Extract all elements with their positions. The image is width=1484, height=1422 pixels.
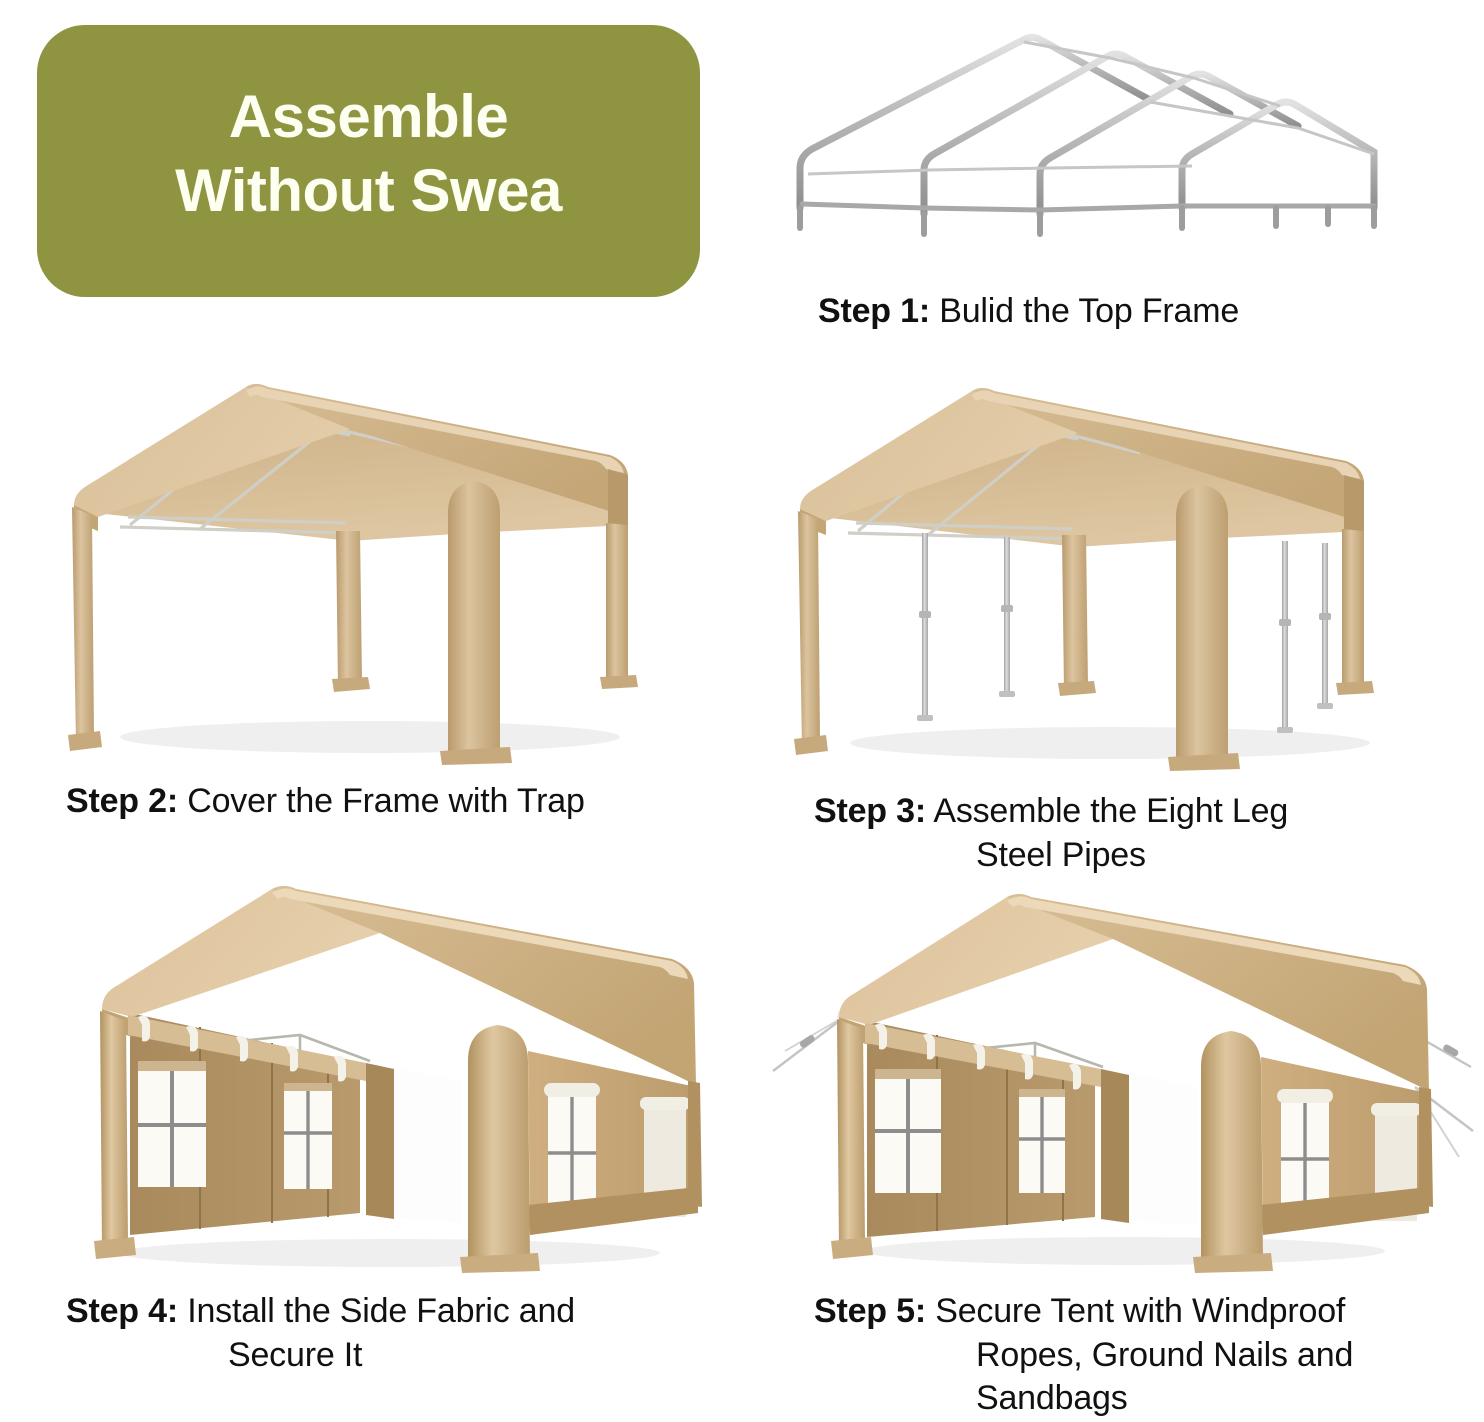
column-front-left [837,1019,865,1249]
rolled-window-cover-1 [1277,1089,1333,1103]
leg-rear-left [1062,535,1088,691]
right-window-1 [544,1083,600,1217]
door-opening [1127,1073,1197,1225]
step-1-caption: Step 1: Bulid the Top Frame [818,290,1458,334]
step-2-label: Step 2: [66,782,178,820]
enclosed-tent-illustration [60,875,720,1275]
interior-window-1 [138,1061,206,1187]
steel-leg-pipe-4 [1317,543,1333,709]
rope-tensioner-left [799,1034,816,1049]
step-1-cell: Step 1: Bulid the Top Frame [760,18,1460,358]
step-4-label: Step 4: [66,1292,178,1330]
leg-foot-rear-right [600,675,638,689]
step-5-label: Step 5: [814,1292,926,1330]
headline-badge-text: Assemble Without Swea [175,80,562,229]
step-5-cell: Step 5: Secure Tent with WindproofRopes,… [750,875,1480,1415]
steel-leg-pipe-1 [917,533,933,721]
door-flap [1101,1069,1129,1223]
leg-rear-right [1342,529,1364,689]
leg-front-left [72,507,94,743]
column-front-right [1201,1031,1263,1267]
step-3-label: Step 3: [814,792,926,830]
leg-foot-front-left [68,731,102,751]
step-3-cell: Step 3: Assemble the Eight LegSteel Pipe… [750,365,1470,865]
step-1-label: Step 1: [818,292,930,330]
step-1-text: Bulid the Top Frame [930,292,1239,330]
step-4-cell: Step 4: Install the Side Fabric andSecur… [20,875,730,1405]
door-opening [392,1067,462,1223]
canopy-covered-illustration [50,365,730,765]
canopy-eave-right [1344,475,1364,539]
steel-leg-pipes [917,533,1333,733]
leg-front-right [1176,485,1228,765]
leg-front-right [448,481,500,759]
ground-shadow [865,1237,1385,1265]
column-rear-right [688,1081,702,1207]
leg-rear-left [336,531,362,687]
enclosed-tent-with-ropes-illustration [755,875,1475,1275]
step-2-text: Cover the Frame with Trap [178,782,585,820]
step-5-text: Secure Tent with Windproof [926,1292,1345,1330]
steel-leg-pipe-2 [999,537,1015,697]
step-2-cell: Step 2: Cover the Frame with Trap [20,365,730,865]
rolled-window-cover-2 [640,1097,690,1110]
step-5-caption: Step 5: Secure Tent with WindproofRopes,… [814,1290,1474,1421]
column-rear-right [1419,1087,1433,1207]
step-4-text: Install the Side Fabric and [178,1292,575,1330]
top-frame-illustration [778,18,1418,248]
step-3-text-continued: Steel Pipes [814,834,1474,878]
step-4-text-continued: Secure It [66,1334,746,1378]
interior-window-2 [1019,1089,1065,1193]
leg-front-left [798,511,820,747]
frame-eave-purlins [802,204,1374,210]
leg-foot-rear-left [332,677,370,692]
door-flap [366,1063,394,1219]
headline-badge: Assemble Without Swea [37,25,700,297]
rolled-window-cover-2 [1371,1103,1421,1116]
interior-window-1 [875,1069,941,1193]
step-2-caption: Step 2: Cover the Frame with Trap [66,780,746,824]
step-5-text-continued: Ropes, Ground Nails and Sandbags [814,1334,1474,1421]
step-4-caption: Step 4: Install the Side Fabric andSecur… [66,1290,746,1377]
ground-shadow [120,1239,660,1267]
canopy-eave-right [608,469,628,533]
step-3-caption: Step 3: Assemble the Eight LegSteel Pipe… [814,790,1474,877]
leg-rear-right [606,523,628,683]
step-3-text: Assemble the Eight Leg [926,792,1288,830]
column-front-right [468,1025,530,1267]
steel-leg-pipe-3 [1277,541,1293,733]
canopy-with-legs-illustration [770,365,1470,775]
rolled-window-cover-1 [544,1083,600,1097]
column-front-left [100,1011,128,1249]
frame-leg-stubs [800,208,1374,234]
ground-shadow [120,721,620,753]
interior-window-2 [284,1083,332,1189]
